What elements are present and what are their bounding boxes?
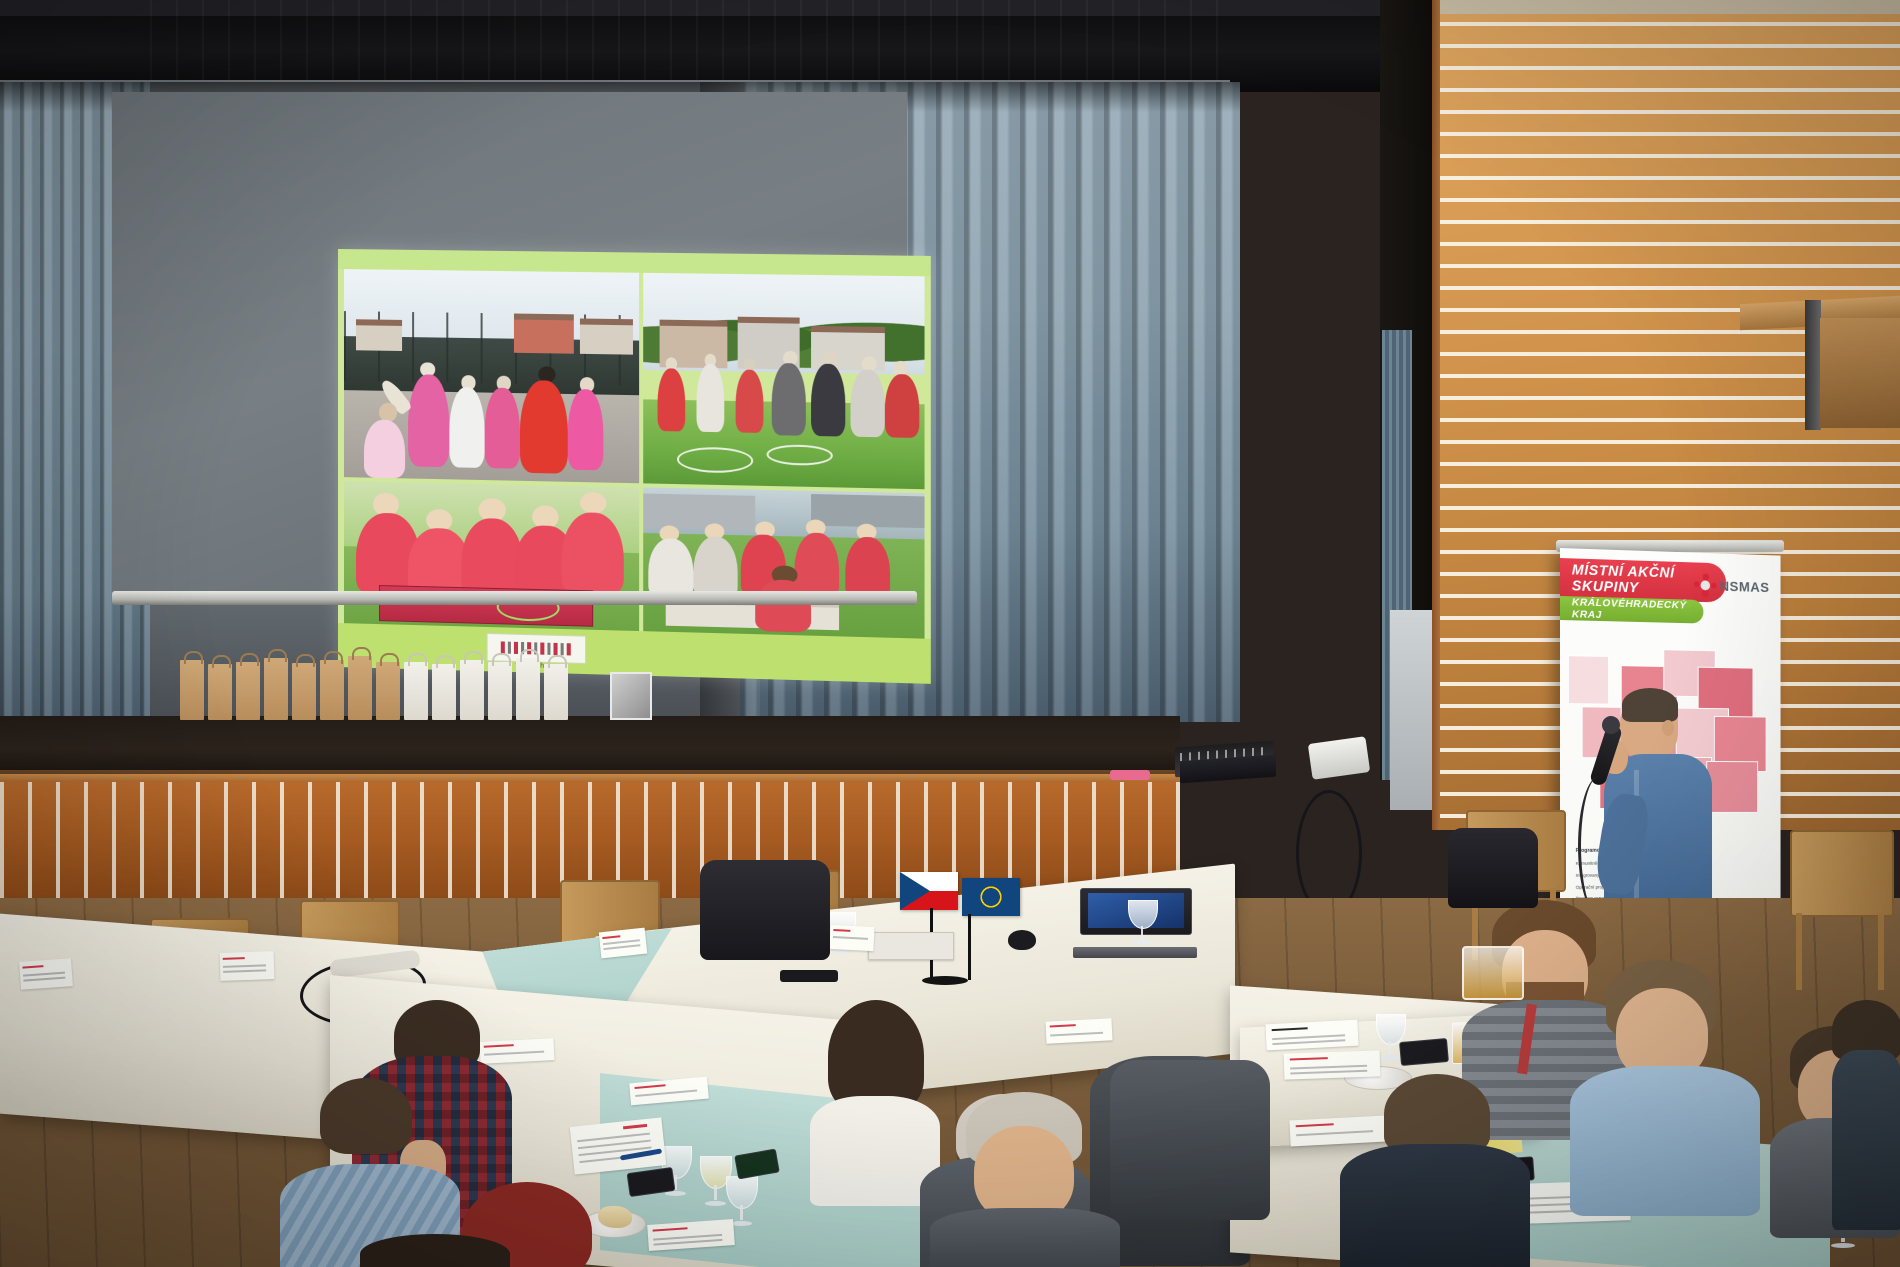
- projection-screen-bottom-bar: [112, 591, 917, 605]
- torso: [1832, 1050, 1900, 1230]
- slide-photo-top-left: [344, 269, 639, 483]
- microphone-cable: [1578, 776, 1621, 916]
- gift-bag: [264, 658, 288, 720]
- gift-bags-row: [180, 648, 600, 720]
- programme-paper[interactable]: [570, 1117, 667, 1174]
- torso: [1570, 1066, 1760, 1216]
- gift-bag: [460, 660, 484, 720]
- flag-stand: [922, 976, 968, 985]
- stage-apron-dark: [0, 716, 1180, 776]
- gift-bag: [320, 660, 344, 720]
- wall-bracket: [1805, 300, 1821, 430]
- wooden-chair[interactable]: [1790, 830, 1890, 990]
- backpack: [700, 860, 830, 960]
- jacket: [1110, 1060, 1270, 1220]
- wall-shelf-lower: [1820, 318, 1900, 428]
- czech-flag: [900, 872, 958, 910]
- presenter-ear: [1662, 720, 1674, 736]
- ceiling: [0, 0, 1470, 92]
- programme-paper[interactable]: [1265, 1020, 1358, 1051]
- backstage-panel: [1390, 610, 1434, 810]
- eu-stars-icon: [979, 885, 1003, 909]
- ceiling-ribs: [150, 0, 1230, 92]
- slide-photo-top-right: [643, 273, 924, 489]
- gift-bag: [544, 664, 568, 720]
- programme-paper[interactable]: [829, 925, 874, 951]
- framed-photo: [610, 672, 652, 720]
- programme-paper[interactable]: [19, 958, 73, 990]
- gift-bag: [376, 662, 400, 720]
- notebook: [868, 932, 954, 960]
- black-bag: [1448, 828, 1538, 908]
- presenter-hair: [1622, 688, 1678, 722]
- torso: [930, 1208, 1120, 1267]
- presentation-hall-scene: www.kjh.cz: [0, 0, 1900, 1267]
- gift-bag: [236, 662, 260, 720]
- person-front-left: [360, 1234, 510, 1267]
- torso: [1340, 1144, 1530, 1267]
- programme-paper[interactable]: [1045, 1018, 1112, 1043]
- nsmas-logo: NSMAS: [1694, 568, 1773, 604]
- slide-photo-bottom-left: [344, 481, 639, 631]
- projected-slide: www.kjh.cz: [338, 249, 931, 684]
- wine-glass: [1128, 900, 1156, 944]
- hair: [360, 1234, 510, 1267]
- person-jacket-on-chair: [1110, 1060, 1270, 1220]
- programme-paper[interactable]: [599, 928, 647, 959]
- gift-bag: [432, 664, 456, 720]
- gift-bag: [404, 662, 428, 720]
- gift-bag: [292, 663, 316, 720]
- programme-paper[interactable]: [220, 951, 275, 981]
- pink-object: [1110, 770, 1150, 780]
- gift-bag: [488, 662, 512, 720]
- beer-glass[interactable]: [1462, 946, 1524, 1000]
- person-far-right-edge: [1832, 1000, 1900, 1230]
- projection-screen: www.kjh.cz: [112, 92, 907, 600]
- gift-bag: [208, 664, 232, 720]
- right-wall-top-trim: [1440, 0, 1900, 14]
- nsmas-logo-text: NSMAS: [1720, 578, 1770, 595]
- slide-photo-bottom-right: [643, 487, 924, 638]
- gift-bag: [348, 656, 372, 720]
- banner-subtitle: KRÁLOVÉHRADECKÝ KRAJ: [1560, 596, 1703, 624]
- eu-flag: [962, 878, 1020, 916]
- hair: [320, 1078, 412, 1154]
- power-strip[interactable]: [1308, 736, 1370, 780]
- man-dark-jacket-right: [1340, 1074, 1530, 1267]
- bread-roll: [598, 1206, 632, 1228]
- banner-subtitle-bar: KRÁLOVÉHRADECKÝ KRAJ: [1560, 596, 1703, 624]
- hair: [1384, 1074, 1490, 1154]
- nsmas-mark-icon: [1694, 573, 1717, 597]
- gift-bag: [180, 660, 204, 720]
- remote-control[interactable]: [780, 970, 838, 982]
- smartphone[interactable]: [1399, 1038, 1449, 1066]
- computer-mouse[interactable]: [1008, 930, 1036, 950]
- gift-bag: [516, 658, 540, 720]
- person-front-center: [930, 1092, 1120, 1267]
- flag-pole: [968, 914, 971, 980]
- man-light-blue-shirt: [1570, 960, 1760, 1210]
